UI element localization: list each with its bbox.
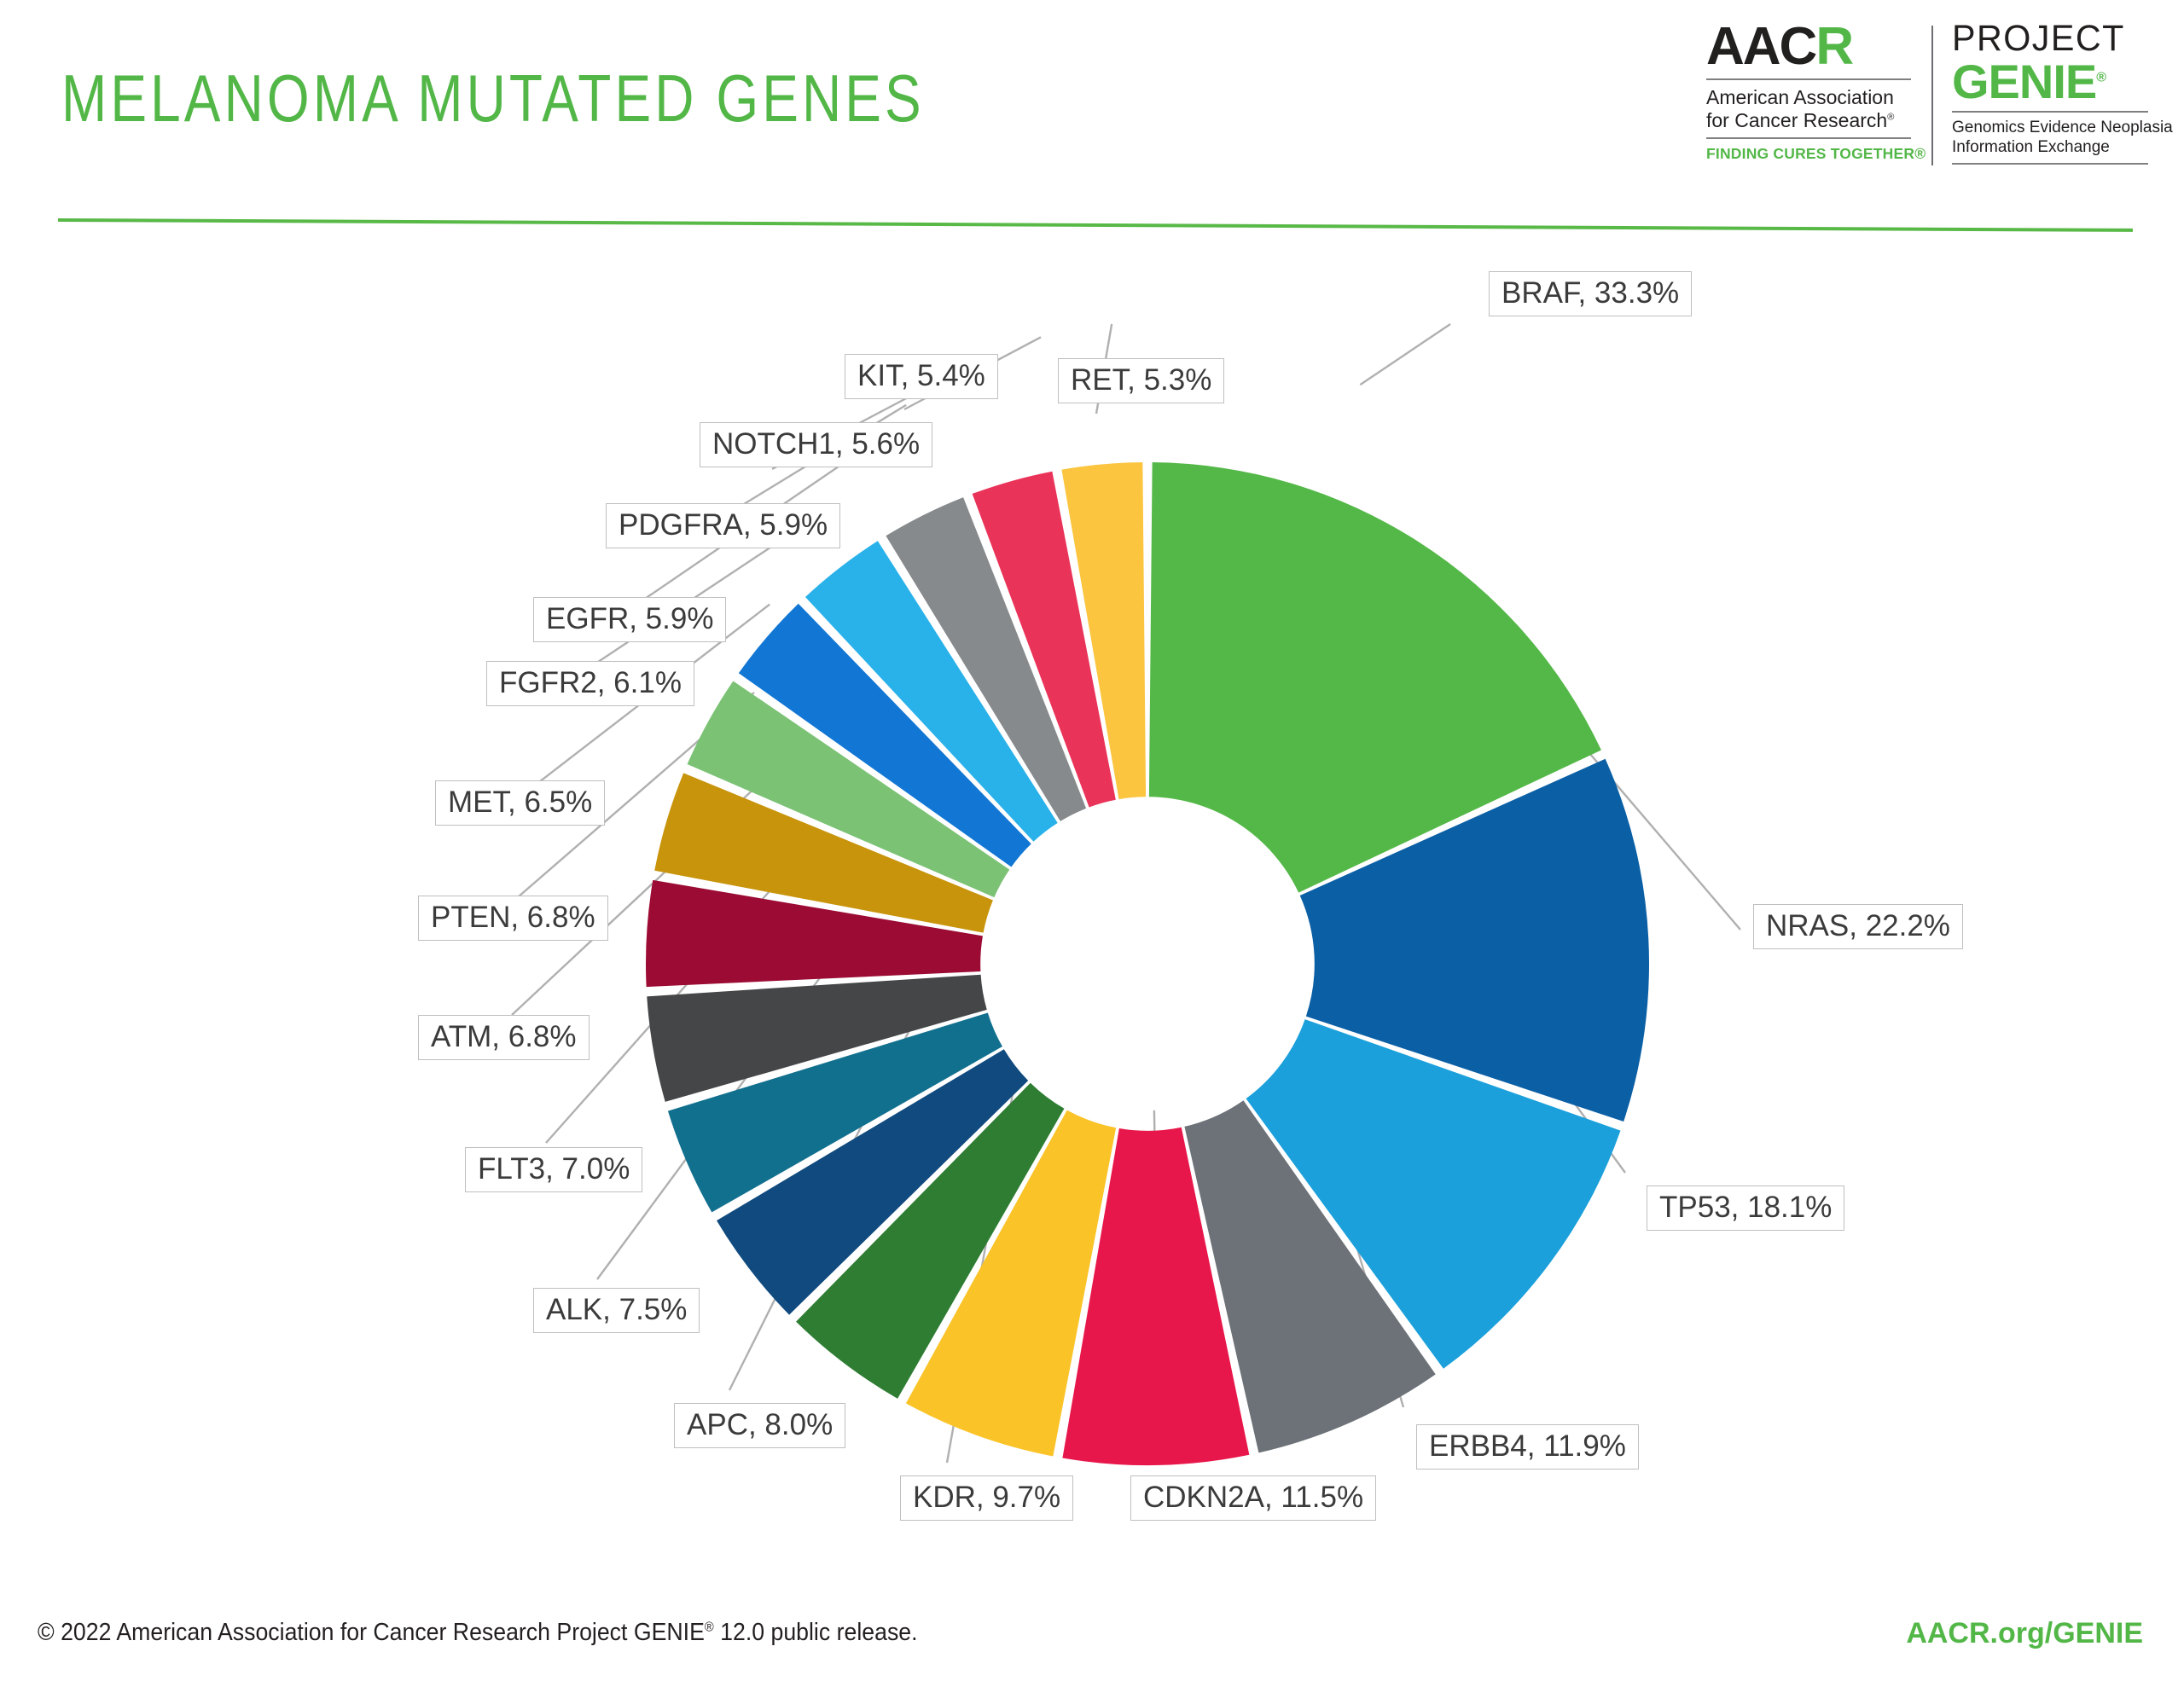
donut-chart: BRAF, 33.3%NRAS, 22.2%TP53, 18.1%ERBB4, … [0,247,2184,1578]
aacr-name-line-2-wrap: for Cancer Research® [1706,109,1911,132]
aacr-genie-url[interactable]: AACR.org/GENIE [1906,1617,2143,1650]
slice-label-cdkn2a[interactable]: CDKN2A, 11.5% [1130,1475,1376,1521]
logo-vertical-divider [1931,26,1933,165]
genie-rule-top [1952,111,2148,113]
slice-label-tp53[interactable]: TP53, 18.1% [1647,1186,1844,1231]
aacr-logo: AACR American Association for Cancer Res… [1706,20,1931,163]
leader-line-braf [1360,324,1450,385]
slice-label-egfr[interactable]: EGFR, 5.9% [533,597,726,642]
slice-label-nras[interactable]: NRAS, 22.2% [1753,904,1963,949]
project-genie-logo: PROJECT GENIE® Genomics Evidence Neoplas… [1952,20,2148,171]
aacr-name-line-1: American Association [1706,86,1911,109]
slice-label-apc[interactable]: APC, 8.0% [674,1403,845,1448]
aacr-rule-bottom [1706,137,1911,139]
copyright-text: © 2022 American Association for Cancer R… [38,1619,705,1646]
slice-label-atm[interactable]: ATM, 6.8% [418,1015,590,1060]
slice-label-met[interactable]: MET, 6.5% [435,780,605,826]
genie-sub-line-1: Genomics Evidence Neoplasia [1952,119,2148,138]
aacr-full-name: American Association for Cancer Research… [1706,86,1911,132]
donut-slices-group [646,462,1649,1465]
slice-label-pten[interactable]: PTEN, 6.8% [418,896,608,941]
slice-label-pdgfra[interactable]: PDGFRA, 5.9% [606,503,840,548]
aacr-rule-top [1706,78,1911,80]
aacr-wordmark-dark: AAC [1706,17,1815,76]
page-header: MELANOMA MUTATED GENES AACR American Ass… [0,0,2184,247]
genie-project-word: PROJECT [1952,20,2140,57]
aacr-registered-mark: ® [1887,112,1894,122]
aacr-wordmark-green-r: R [1815,17,1852,76]
genie-expansion: Genomics Evidence Neoplasia Information … [1952,119,2148,158]
slice-label-kdr[interactable]: KDR, 9.7% [900,1475,1073,1521]
slice-label-erbb4[interactable]: ERBB4, 11.9% [1416,1424,1639,1470]
slice-label-notch1[interactable]: NOTCH1, 5.6% [700,422,932,467]
genie-wordmark: GENIE® [1952,57,2148,106]
header-divider-rule [58,218,2133,232]
page-title: MELANOMA MUTATED GENES [61,60,925,137]
slice-label-kit[interactable]: KIT, 5.4% [845,354,998,399]
copyright-registered-mark: ® [705,1620,714,1634]
slice-label-fgfr2[interactable]: FGFR2, 6.1% [486,661,694,706]
copyright-notice: © 2022 American Association for Cancer R… [38,1619,918,1647]
slice-label-alk[interactable]: ALK, 7.5% [533,1288,700,1333]
logo-block: AACR American Association for Cancer Res… [1706,20,2148,171]
copyright-release-text: 12.0 public release. [714,1619,918,1646]
aacr-wordmark-text: AACR [1706,20,1911,73]
genie-wordmark-text: GENIE [1952,55,2096,108]
slice-label-braf[interactable]: BRAF, 33.3% [1489,271,1692,316]
slice-label-flt3[interactable]: FLT3, 7.0% [465,1147,642,1192]
genie-registered-mark: ® [2096,70,2106,84]
slice-label-ret[interactable]: RET, 5.3% [1058,358,1224,403]
aacr-name-line-2: for Cancer Research [1706,109,1887,131]
genie-sub-line-2: Information Exchange [1952,138,2148,158]
aacr-tagline: FINDING CURES TOGETHER® [1706,145,1911,163]
genie-rule-bottom [1952,163,2148,165]
